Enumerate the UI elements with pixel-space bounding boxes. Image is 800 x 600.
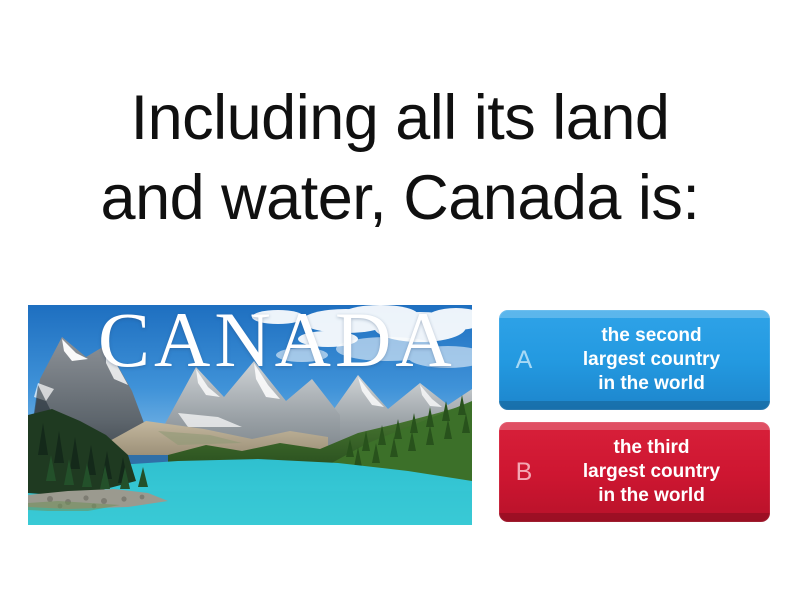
answer-option-b[interactable]: B the third largest country in the world (499, 422, 770, 522)
button-shadow-b (499, 513, 770, 522)
answer-b-line1-lead: the (614, 437, 648, 458)
answer-a-line1-emphasis: second (635, 325, 702, 346)
question-line-2: and water, Canada is: (0, 158, 800, 238)
answer-text-a: the second largest country in the world (543, 324, 770, 396)
button-shadow-a (499, 401, 770, 410)
answer-a-line2: largest country (583, 349, 720, 370)
answer-b-line2: largest country (583, 461, 720, 482)
question-media: CANADA (28, 305, 472, 525)
answer-letter-a: A (499, 348, 543, 373)
answer-a-line1-lead: the (601, 325, 635, 346)
button-highlight-a (499, 310, 770, 318)
answer-text-b: the third largest country in the world (543, 436, 770, 508)
answer-a-line3: in the world (598, 373, 705, 394)
answer-b-line1-emphasis: third (647, 437, 689, 458)
question-line-1: Including all its land (0, 78, 800, 158)
button-highlight-b (499, 422, 770, 430)
answer-options: A the second largest country in the worl… (499, 310, 770, 534)
answer-option-a[interactable]: A the second largest country in the worl… (499, 310, 770, 410)
answer-b-line3: in the world (598, 485, 705, 506)
question-area: Including all its land and water, Canada… (0, 78, 800, 238)
canada-landscape-photo (28, 305, 472, 525)
answer-letter-b: B (499, 460, 543, 485)
